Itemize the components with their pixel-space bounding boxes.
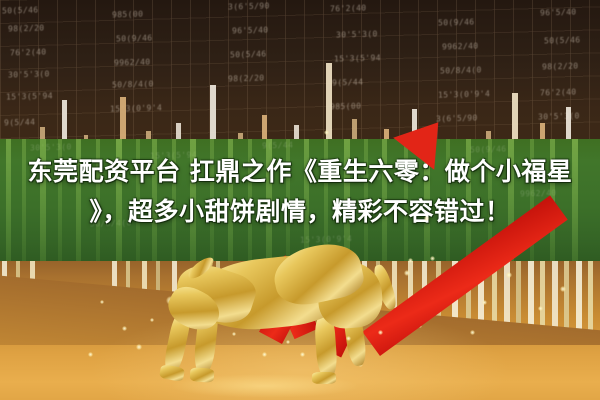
sparkle bbox=[560, 286, 566, 292]
arrow-highlight-dot bbox=[378, 330, 383, 335]
arrow-highlight-dot bbox=[424, 216, 429, 221]
arrow-highlight-dot bbox=[346, 336, 351, 341]
sparkle bbox=[538, 306, 543, 311]
sparkle-group bbox=[0, 0, 600, 400]
sparkle bbox=[122, 326, 127, 331]
sparkle bbox=[324, 130, 329, 135]
sparkle bbox=[430, 256, 435, 261]
sparkle bbox=[286, 340, 290, 344]
bull-body-part bbox=[312, 372, 336, 384]
sparkle bbox=[100, 300, 104, 304]
sparkle bbox=[262, 352, 267, 357]
bull-body-part bbox=[190, 367, 215, 383]
arrow-highlight-dot bbox=[300, 352, 305, 357]
sparkle bbox=[404, 270, 410, 276]
sparkle bbox=[232, 332, 236, 336]
sparkle bbox=[482, 300, 487, 305]
banner-image: 50(5/4698(2/2076'2(4030'5'3(015'3(5'949(… bbox=[0, 0, 600, 400]
sparkle bbox=[150, 318, 154, 322]
sparkle bbox=[136, 344, 142, 350]
sparkle bbox=[470, 330, 475, 335]
sparkle bbox=[506, 272, 512, 278]
sparkle bbox=[88, 352, 93, 357]
arrow-highlight-dot bbox=[408, 258, 413, 263]
